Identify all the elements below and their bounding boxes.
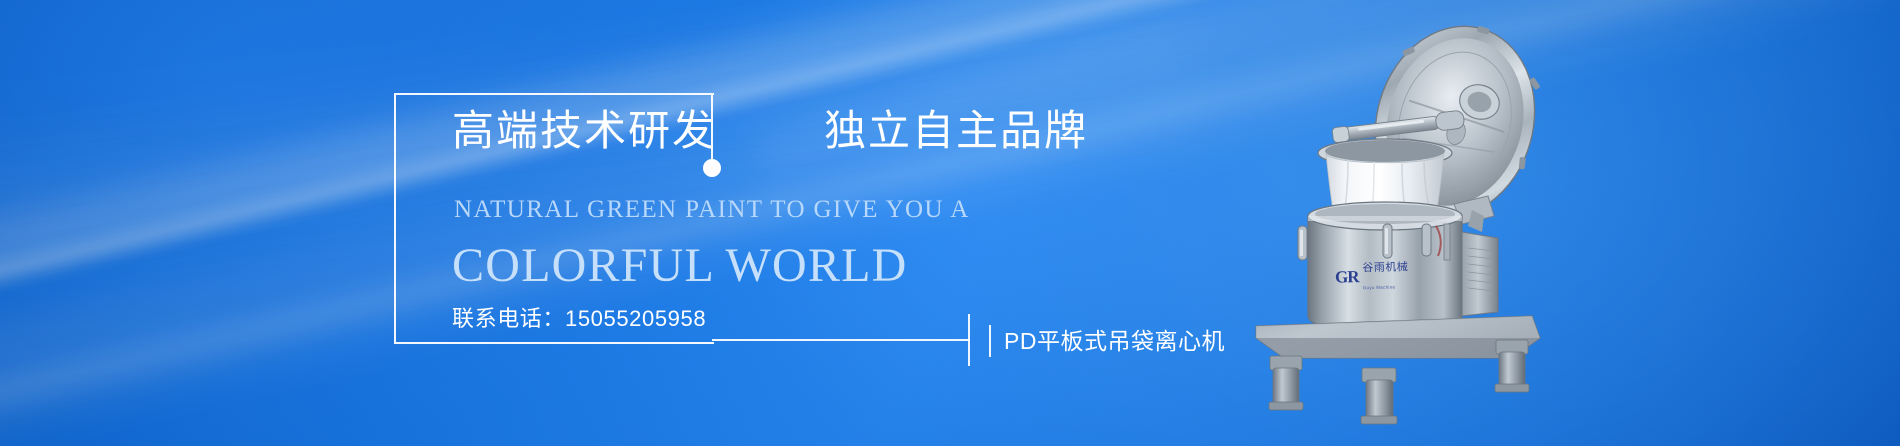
- caption-pointer-line-icon: [712, 339, 970, 341]
- headline: 高端技术研发 独立自主品牌: [452, 110, 1088, 152]
- brand-name-en: Guyu Machine: [1363, 285, 1396, 291]
- caption-pointer-tick-icon: [968, 314, 970, 366]
- machine-brand-logo: GR 谷雨机械 Guyu Machine: [1335, 257, 1409, 294]
- bullet-dot-icon: [703, 159, 721, 177]
- brand-name-cn: 谷雨机械: [1362, 261, 1408, 274]
- centrifuge-machine-photo: [1240, 20, 1580, 430]
- product-caption: PD平板式吊袋离心机: [1004, 325, 1225, 357]
- headline-part-b: 独立自主品牌: [824, 110, 1088, 152]
- contact-phone[interactable]: 联系电话：15055205958: [452, 301, 706, 333]
- promo-banner: 高端技术研发 独立自主品牌 NATURAL GREEN PAINT TO GIV…: [0, 0, 1900, 446]
- subtitle-large: COLORFUL WORLD: [452, 238, 907, 293]
- subtitle-small: NATURAL GREEN PAINT TO GIVE YOU A: [454, 196, 970, 224]
- brand-mark-text: GR: [1335, 268, 1359, 285]
- caption-accent-bar-icon: [989, 325, 991, 357]
- headline-part-a: 高端技术研发: [452, 110, 716, 152]
